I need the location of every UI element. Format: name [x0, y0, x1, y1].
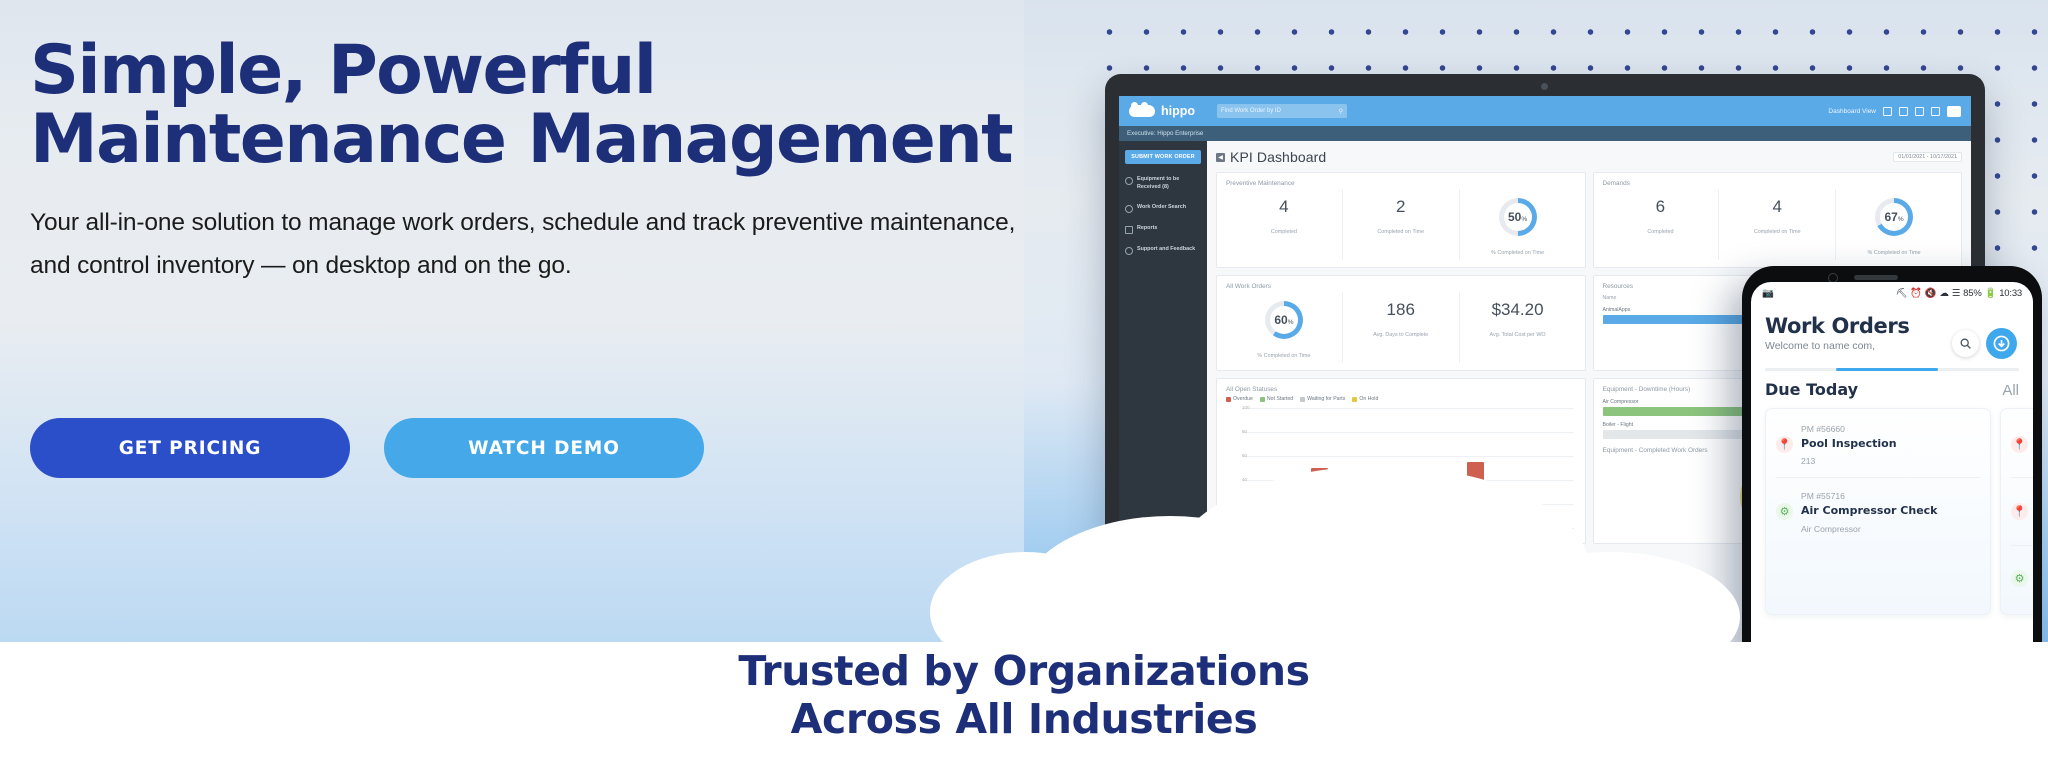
- hero-cta-row: GET PRICING WATCH DEMO: [30, 418, 704, 478]
- legend-label: Overdue: [1233, 396, 1253, 402]
- list-item[interactable]: 📍 PM #56660 Pool Inspection 213: [1776, 411, 1980, 478]
- window-icon[interactable]: [1947, 106, 1961, 117]
- kpi-label: Completed on Time: [1719, 229, 1835, 235]
- kpi-label: Completed: [1226, 229, 1342, 235]
- gauge-value: 60: [1274, 313, 1287, 327]
- kpi-value: 4: [1719, 198, 1835, 215]
- sidebar-item-label: Support and Feedback: [1137, 246, 1195, 254]
- list-item[interactable]: ⚙ PM HV Ai: [2011, 546, 2033, 612]
- chart-icon: [1125, 226, 1133, 234]
- list-item[interactable]: 📍 PM Po 21: [2011, 478, 2033, 545]
- gear-icon: ⚙: [2011, 570, 2028, 587]
- breadcrumb: Executive: Hippo Enterprise: [1119, 126, 1971, 141]
- kpi-value: 4: [1226, 198, 1342, 215]
- sidebar-item-equipment-received[interactable]: Equipment to be Received (8): [1125, 176, 1201, 192]
- kpi-label: Avg. Days to Complete: [1343, 332, 1459, 338]
- card-title: All Open Statuses: [1226, 386, 1576, 393]
- kpi-value: 6: [1603, 198, 1719, 215]
- all-work-orders-card: All Work Orders 60% % Completed on Time: [1216, 275, 1586, 371]
- chat-icon: [1125, 247, 1133, 255]
- bluetooth-icon: ⛏: [1895, 288, 1907, 299]
- page-title: Simple, Powerful Maintenance Management: [30, 36, 1050, 175]
- kpi-top-row: Preventive Maintenance 4 Completed 2 Com…: [1216, 172, 1962, 275]
- gauge-value: 50: [1508, 210, 1521, 224]
- sidebar-item-label: Equipment to be Received (8): [1137, 176, 1201, 192]
- hippo-glyph-icon: [1129, 105, 1155, 117]
- location-pin-icon: 📍: [1776, 436, 1793, 453]
- sidebar-item-label: Reports: [1137, 225, 1157, 233]
- legend-label: On Hold: [1359, 396, 1378, 402]
- cloud-icon[interactable]: [1931, 107, 1940, 116]
- kpi-cell: 4 Completed on Time: [1719, 189, 1836, 260]
- trusted-heading: Trusted by Organizations Across All Indu…: [0, 648, 2048, 744]
- location-pin-icon: 📍: [2011, 436, 2028, 453]
- legend-item: Waiting for Parts: [1300, 396, 1345, 402]
- kpi-cell: 2 Completed on Time: [1343, 189, 1460, 260]
- sidebar-item-support-feedback[interactable]: Support and Feedback: [1125, 246, 1201, 255]
- sidebar-item-label: Work Order Search: [1137, 204, 1186, 212]
- kpi-cell: 67% % Completed on Time: [1836, 189, 1952, 260]
- gear-icon: ⚙: [1776, 503, 1793, 520]
- chart-legend: Overdue Not Started Waiting for Parts On…: [1226, 396, 1576, 402]
- battery-icon: 🔋: [1985, 288, 1997, 299]
- gauge-unit: %: [1898, 216, 1904, 223]
- watch-demo-button[interactable]: WATCH DEMO: [384, 418, 704, 478]
- donut-gauge: 60%: [1265, 301, 1303, 339]
- hero-subheading: Your all-in-one solution to manage work …: [30, 201, 1035, 288]
- kpi-cell: 186 Avg. Days to Complete: [1343, 292, 1460, 363]
- sidebar-item-work-order-search[interactable]: Work Order Search: [1125, 204, 1201, 213]
- donut-gauge: 50%: [1499, 198, 1537, 236]
- legend-item: On Hold: [1352, 396, 1378, 402]
- search-icon[interactable]: ⚲: [1339, 108, 1343, 115]
- work-order-meta: Air Compressor: [1801, 524, 1861, 534]
- phone-speaker-icon: [1854, 275, 1898, 280]
- work-order-id: PM #56660: [1801, 424, 1845, 434]
- kpi-label: Avg. Total Cost per WO: [1460, 332, 1576, 338]
- kpi-label: Completed: [1603, 229, 1719, 235]
- hero-copy: Simple, Powerful Maintenance Management …: [30, 36, 1050, 288]
- clock-time: 10:33: [1999, 288, 2022, 299]
- kpi-cell: 4 Completed: [1226, 189, 1343, 260]
- wifi-icon: ☁: [1940, 288, 1949, 299]
- location-pin-icon: 📍: [2011, 503, 2028, 520]
- get-pricing-button[interactable]: GET PRICING: [30, 418, 350, 478]
- kpi-label: Completed on Time: [1343, 229, 1459, 235]
- kpi-cell: 6 Completed: [1603, 189, 1720, 260]
- sidebar-item-reports[interactable]: Reports: [1125, 225, 1201, 234]
- work-order-card[interactable]: 📍 PM Po 21 📍 PM Po 21: [2000, 408, 2033, 615]
- date-range-picker[interactable]: 01/01/2021 - 10/17/2021: [1893, 152, 1962, 162]
- preventive-maintenance-card: Preventive Maintenance 4 Completed 2 Com…: [1216, 172, 1586, 268]
- work-order-card[interactable]: 📍 PM #56660 Pool Inspection 213 ⚙ PM #55…: [1765, 408, 1991, 615]
- dashboard-title: KPI Dashboard: [1230, 149, 1326, 165]
- collapse-sidebar-icon[interactable]: ◀: [1216, 153, 1225, 162]
- card-title: All Work Orders: [1226, 283, 1576, 290]
- search-icon: [1125, 205, 1133, 213]
- screenshot-icon: 📷: [1762, 288, 1774, 299]
- hippo-logo[interactable]: hippo: [1129, 104, 1195, 118]
- column-header-name: Name: [1603, 295, 1617, 301]
- legend-label: Not Started: [1267, 396, 1293, 402]
- grid-view-icon[interactable]: [1883, 107, 1892, 116]
- donut-gauge: 67%: [1875, 198, 1913, 236]
- list-item[interactable]: 📍 PM Po 21: [2011, 411, 2033, 478]
- phone-status-bar: 📷 ⛏ ⏰ 🔇 ☁ ☰ 85% 🔋 10:33: [1751, 282, 2033, 304]
- legend-item: Not Started: [1260, 396, 1293, 402]
- kpi-value: 2: [1343, 198, 1459, 215]
- dashboard-header: ◀ KPI Dashboard 01/01/2021 - 10/17/2021: [1216, 149, 1962, 165]
- tablet-camera-icon: [1541, 83, 1548, 90]
- legend-swatch: [1352, 397, 1357, 402]
- tab-all[interactable]: All: [2002, 382, 2019, 399]
- kpi-value: $34.20: [1460, 301, 1576, 318]
- phone-tabs: Due Today All: [1751, 371, 2033, 399]
- kpi-label: % Completed on Time: [1226, 353, 1342, 359]
- kpi-cell: 50% % Completed on Time: [1460, 189, 1576, 260]
- y-tick: 100: [1242, 405, 1250, 410]
- app-header: hippo Find Work Order by ID ⚲ Dashboard …: [1119, 96, 1971, 126]
- home-icon[interactable]: [1915, 107, 1924, 116]
- phone-tab-indicator: [1765, 368, 2019, 371]
- kpi-cell: 60% % Completed on Time: [1226, 292, 1343, 363]
- legend-swatch: [1226, 397, 1231, 402]
- legend-swatch: [1260, 397, 1265, 402]
- toolbar-label: Dashboard View: [1828, 108, 1876, 115]
- demands-card: Demands 6 Completed 4 Completed on Time: [1593, 172, 1963, 268]
- legend-swatch: [1300, 397, 1305, 402]
- work-order-name: Air Compressor Check: [1801, 504, 1938, 518]
- gauge-unit: %: [1288, 319, 1294, 326]
- work-order-search-input[interactable]: Find Work Order by ID ⚲: [1217, 104, 1347, 118]
- legend-item: Overdue: [1226, 396, 1253, 402]
- app-name: hippo: [1161, 104, 1195, 118]
- add-work-order-button[interactable]: [1986, 328, 2017, 359]
- card-title: Preventive Maintenance: [1226, 180, 1576, 187]
- box-icon: [1125, 177, 1133, 185]
- search-icon[interactable]: [1952, 330, 1979, 357]
- work-order-name: Pool Inspection: [1801, 437, 1897, 451]
- search-placeholder: Find Work Order by ID: [1221, 108, 1281, 114]
- list-view-icon[interactable]: [1899, 107, 1908, 116]
- signal-icon: ☰: [1952, 288, 1960, 299]
- battery-level: 85%: [1963, 288, 1981, 299]
- kpi-label: % Completed on Time: [1460, 250, 1576, 256]
- kpi-cell: $34.20 Avg. Total Cost per WO: [1460, 292, 1576, 363]
- mute-icon: 🔇: [1925, 288, 1937, 299]
- app-toolbar: Dashboard View: [1828, 106, 1961, 117]
- gauge-value: 67: [1884, 210, 1897, 224]
- hero-section: Simple, Powerful Maintenance Management …: [0, 0, 2048, 770]
- kpi-value: 186: [1343, 301, 1459, 318]
- card-title: Demands: [1603, 180, 1953, 187]
- work-order-meta: 213: [1801, 456, 1815, 466]
- tab-due-today[interactable]: Due Today: [1765, 380, 1858, 399]
- kpi-label: % Completed on Time: [1836, 250, 1952, 256]
- legend-label: Waiting for Parts: [1307, 396, 1345, 402]
- list-item[interactable]: ⚙ PM #55716 Air Compressor Check Air Com…: [1776, 478, 1980, 544]
- work-order-card-list: 📍 PM #56660 Pool Inspection 213 ⚙ PM #55…: [1751, 399, 2033, 615]
- submit-work-order-button[interactable]: SUBMIT WORK ORDER: [1125, 150, 1201, 164]
- alarm-icon: ⏰: [1910, 288, 1922, 299]
- gauge-unit: %: [1521, 216, 1527, 223]
- work-order-id: PM #55716: [1801, 491, 1845, 501]
